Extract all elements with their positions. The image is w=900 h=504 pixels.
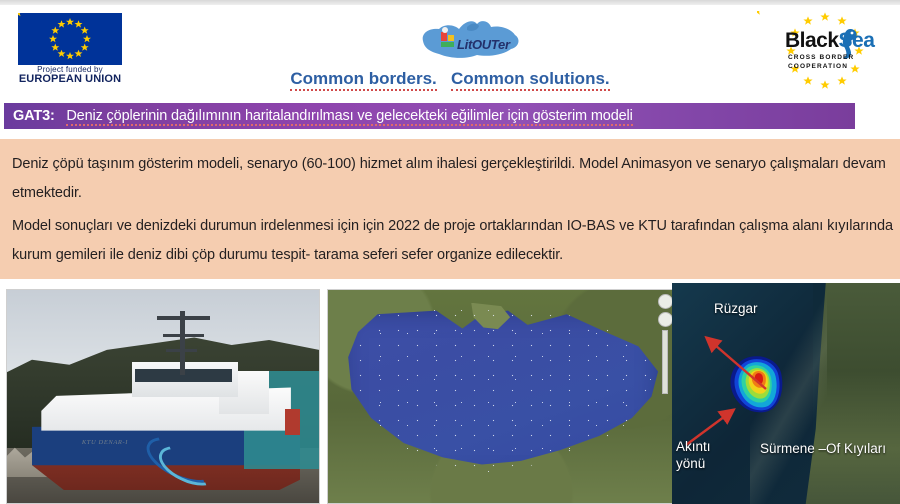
research-vessel-photo: KTU DENAR-I bbox=[6, 289, 320, 504]
mast-spar-middle bbox=[163, 334, 204, 337]
litouter-wordmark: LitOUTer bbox=[457, 37, 510, 52]
label-current-direction: Akıntı yönü bbox=[676, 438, 711, 472]
label-current-line1: Akıntı bbox=[676, 438, 711, 455]
banner-text-wrapper: GAT3: Deniz çöplerinin dağılımının harit… bbox=[4, 108, 633, 124]
pegman-icon[interactable] bbox=[658, 312, 673, 327]
litouter-project-logo: LitOUTer bbox=[415, 11, 530, 69]
label-current-line2: yönü bbox=[676, 455, 711, 472]
black-sea-wordmark: BlackSea bbox=[785, 29, 874, 53]
label-location: Sürmene –Of Kıyıları bbox=[760, 441, 886, 456]
map-zoom-control[interactable] bbox=[658, 294, 671, 394]
compass-icon[interactable] bbox=[658, 294, 673, 309]
vessel-mast bbox=[180, 311, 185, 375]
banner-title: Deniz çöplerinin dağılımının haritalandı… bbox=[66, 108, 632, 126]
surmene-of-plume-map: Rüzgar Akıntı yönü Sürmene –Of Kıyıları bbox=[672, 283, 900, 504]
black-sea-word-black: Black bbox=[785, 29, 839, 52]
vessel-name-label: KTU DENAR-I bbox=[82, 439, 128, 446]
black-sea-particle-map bbox=[327, 289, 676, 504]
label-wind: Rüzgar bbox=[714, 301, 758, 316]
eu-stars-icon bbox=[18, 13, 122, 65]
tagline-part1: Common borders. bbox=[290, 69, 436, 91]
paragraph-1: Deniz çöpü taşınım gösterim modeli, sena… bbox=[12, 150, 890, 208]
eu-flag-icon bbox=[18, 13, 122, 65]
slide-header: Project funded by EUROPEAN UNION LitOUTe… bbox=[0, 5, 900, 98]
wind-direction-arrow bbox=[700, 331, 772, 393]
programme-tagline: Common borders. Common solutions. bbox=[0, 69, 900, 89]
presentation-slide: Project funded by EUROPEAN UNION LitOUTe… bbox=[0, 0, 900, 504]
tagline-part2: Common solutions. bbox=[451, 69, 610, 91]
zoom-slider[interactable] bbox=[662, 330, 668, 394]
content-text-box: Deniz çöpü taşınım gösterim modeli, sena… bbox=[0, 139, 900, 279]
banner-prefix: GAT3: bbox=[13, 108, 55, 124]
black-sea-subtitle-line1: CROSS BORDER bbox=[788, 54, 854, 63]
figure-row: KTU DENAR-I bbox=[0, 283, 900, 504]
paragraph-2: Model sonuçları ve denizdeki durumun ird… bbox=[12, 212, 896, 270]
mast-spar-upper bbox=[157, 316, 210, 319]
section-title-banner: GAT3: Deniz çöplerinin dağılımının harit… bbox=[4, 103, 855, 129]
deck-crane bbox=[285, 409, 301, 435]
mast-spar-lower bbox=[166, 349, 197, 352]
